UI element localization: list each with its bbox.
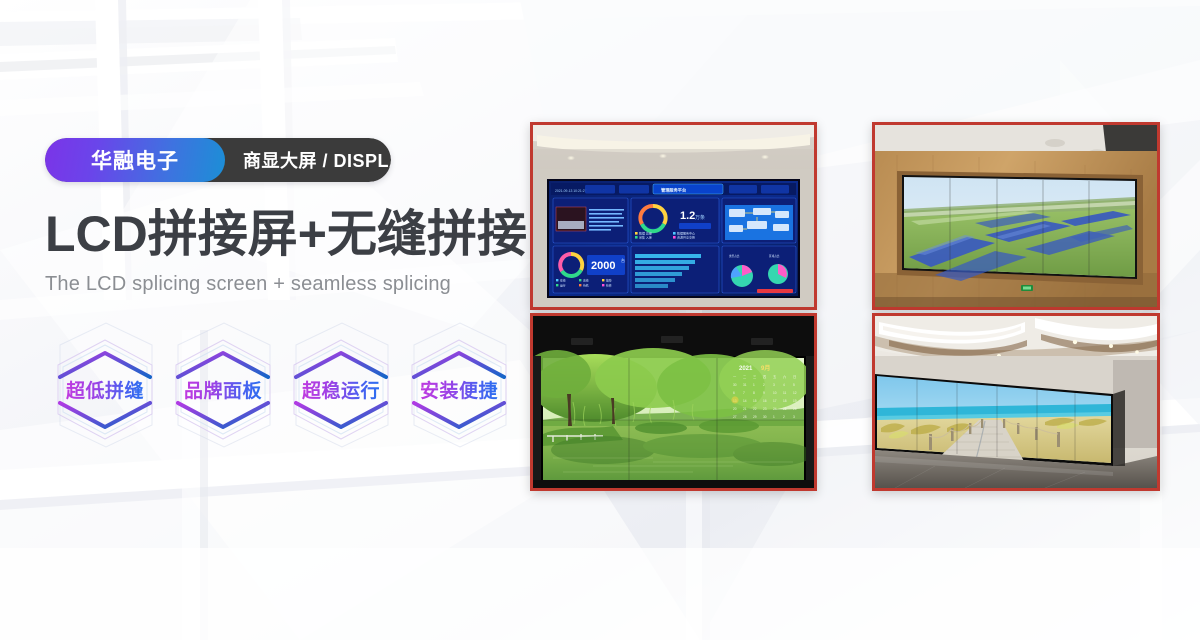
svg-text:二: 二 (743, 375, 746, 379)
svg-text:22: 22 (753, 407, 757, 411)
svg-text:资源共享交换: 资源共享交换 (677, 235, 695, 240)
svg-text:2021: 2021 (739, 366, 753, 372)
svg-text:30: 30 (763, 415, 767, 419)
promo-banner: 华融电子 商显大屏 / DISPLAY LCD拼接屏+无缝拼接 The LCD … (0, 0, 1200, 640)
svg-text:运行: 运行 (560, 283, 566, 287)
feature-label: 超稳运行 (302, 376, 380, 403)
photo-dashboard-videowall[interactable]: 2021-09-13 10:21:27 管理服务平台 (530, 122, 817, 310)
svg-text:四: 四 (763, 375, 766, 379)
brand-badge: 华融电子 (45, 138, 225, 182)
svg-text:日: 日 (793, 375, 796, 379)
svg-text:离线: 离线 (583, 278, 589, 282)
svg-text:29: 29 (753, 415, 757, 419)
feature-label: 品牌面板 (184, 376, 262, 403)
svg-text:采集 入库: 采集 入库 (639, 235, 652, 240)
svg-text:待机: 待机 (583, 283, 589, 287)
brand-badge-row: 华融电子 商显大屏 / DISPLAY (45, 138, 391, 182)
svg-text:31: 31 (743, 383, 747, 387)
svg-text:25: 25 (783, 407, 787, 411)
svg-text:27: 27 (733, 415, 737, 419)
svg-text:16: 16 (763, 399, 767, 403)
svg-text:21: 21 (743, 407, 747, 411)
svg-text:三: 三 (753, 375, 756, 379)
photo-beach-boardwalk-videowall[interactable]: 大厅弧形吊顶下长排LCD拼接屏播放海滩栈道画面 (872, 313, 1160, 491)
svg-text:管理服务平台: 管理服务平台 (661, 187, 686, 194)
svg-text:台: 台 (621, 257, 625, 263)
feature-item-0: 超低拼缝 (46, 333, 164, 446)
svg-text:19: 19 (793, 399, 797, 403)
svg-text:12: 12 (793, 391, 797, 395)
feature-list: 超低拼缝 品牌面板 (46, 333, 518, 446)
svg-text:20: 20 (733, 407, 737, 411)
feature-item-1: 品牌面板 (164, 333, 282, 446)
svg-text:9: 9 (763, 391, 765, 395)
svg-text:万条: 万条 (695, 214, 705, 221)
product-photo-grid: 2021-09-13 10:21:27 管理服务平台 (530, 122, 1162, 488)
svg-text:14: 14 (743, 399, 747, 403)
svg-text:30: 30 (733, 383, 737, 387)
svg-text:检修: 检修 (606, 283, 612, 287)
svg-text:17: 17 (773, 399, 777, 403)
photo-solar-farm-videowall[interactable]: 木饰面墙体长条LCD拼接大屏播放光伏电站航拍画面 (872, 122, 1160, 310)
svg-text:2021-09-13 10:21:27: 2021-09-13 10:21:27 (555, 189, 587, 193)
photo-willow-lake-videowall[interactable]: 2021 9月 一二三 四五六日 30311 2345 678 9101112 … (530, 313, 817, 491)
svg-text:3: 3 (773, 383, 775, 387)
svg-text:2: 2 (763, 383, 765, 387)
svg-text:7: 7 (743, 391, 745, 395)
svg-text:23: 23 (763, 407, 767, 411)
svg-text:1: 1 (753, 383, 755, 387)
svg-text:类型占比: 类型占比 (729, 254, 740, 258)
svg-text:28: 28 (743, 415, 747, 419)
svg-text:4: 4 (783, 383, 785, 387)
feature-item-2: 超稳运行 (282, 333, 400, 446)
svg-text:9月: 9月 (761, 364, 770, 372)
svg-text:8: 8 (753, 391, 755, 395)
svg-text:6: 6 (733, 391, 735, 395)
page-subtitle: The LCD splicing screen + seamless splic… (45, 273, 515, 296)
feature-label: 超低拼缝 (66, 376, 144, 403)
page-title: LCD拼接屏+无缝拼接 (45, 208, 515, 261)
svg-text:在线: 在线 (560, 278, 566, 282)
svg-text:24: 24 (773, 407, 777, 411)
svg-text:故障: 故障 (606, 278, 612, 282)
headline-block: 华融电子 商显大屏 / DISPLAY LCD拼接屏+无缝拼接 The LCD … (45, 138, 515, 296)
feature-item-3: 安装便捷 (400, 333, 518, 446)
svg-text:11: 11 (783, 391, 787, 395)
svg-text:1: 1 (773, 415, 775, 419)
svg-text:15: 15 (753, 399, 757, 403)
feature-label: 安装便捷 (420, 376, 498, 403)
svg-text:区域占比: 区域占比 (769, 254, 780, 258)
svg-text:2: 2 (783, 415, 785, 419)
svg-text:3: 3 (793, 415, 795, 419)
svg-text:26: 26 (793, 407, 797, 411)
svg-text:10: 10 (773, 391, 777, 395)
svg-text:18: 18 (783, 399, 787, 403)
svg-text:5: 5 (793, 383, 795, 387)
svg-text:2000: 2000 (591, 260, 615, 272)
category-badge: 商显大屏 / DISPLAY (225, 138, 391, 182)
svg-text:1.2: 1.2 (680, 210, 695, 222)
